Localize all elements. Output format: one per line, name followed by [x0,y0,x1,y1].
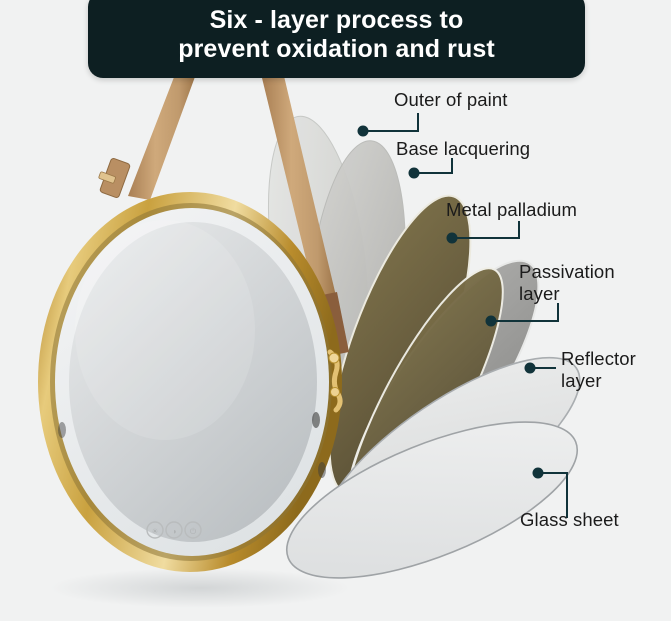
infographic-canvas: ☀ ◑ ⏻ [0,0,671,621]
callout-label-outer-of-paint: Outer of paint [394,89,508,111]
callout-label-reflector-layer: Reflector layer [561,348,636,392]
title-banner: Six - layer process to prevent oxidation… [88,0,585,78]
title-line-1: Six - layer process to [210,6,464,35]
svg-text:☀: ☀ [151,527,158,536]
connector-base-lacquering [409,158,453,179]
strap-buckle [98,158,130,199]
svg-text:⏻: ⏻ [190,527,197,536]
callout-label-base-lacquering: Base lacquering [396,138,530,160]
callout-label-passivation-layer: Passivation layer [519,261,615,305]
connector-outer-of-paint [358,113,419,137]
title-line-2: prevent oxidation and rust [178,35,495,64]
callout-label-metal-palladium: Metal palladium [446,199,577,221]
callout-label-glass-sheet: Glass sheet [520,509,619,531]
svg-text:◑: ◑ [172,527,177,536]
